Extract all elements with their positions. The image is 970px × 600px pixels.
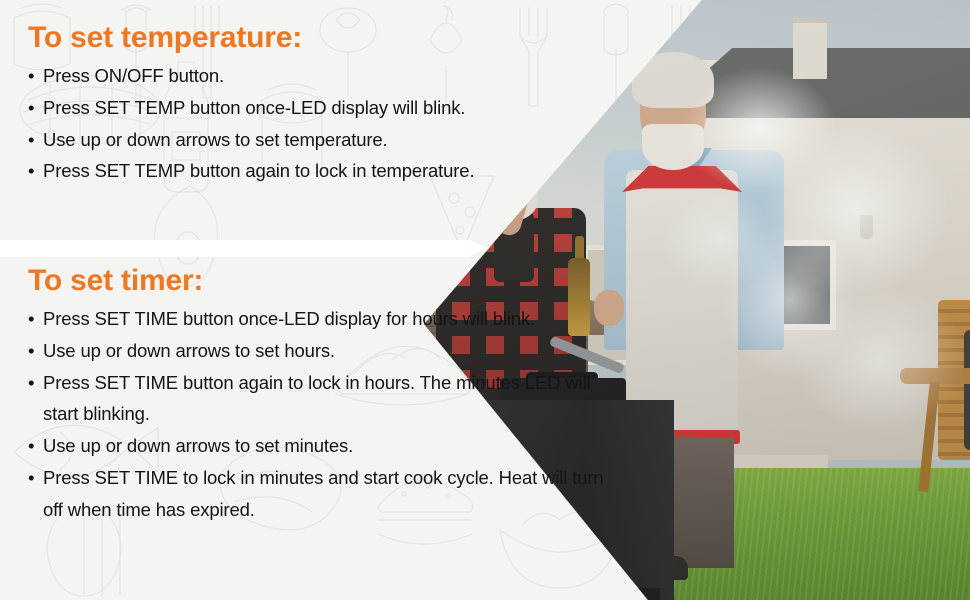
chimney: [793, 18, 827, 79]
list-item: • Press ON/OFF button.: [28, 60, 588, 92]
list-item: • Use up or down arrows to set minutes.: [28, 430, 628, 462]
list-item: • Use up or down arrows to set hours.: [28, 335, 628, 367]
list-item-text: Use up or down arrows to set minutes.: [43, 435, 353, 456]
bullet-glyph: •: [28, 335, 34, 367]
instructions-column: To set temperature: • Press ON/OFF butto…: [0, 0, 660, 600]
section-set-timer: To set timer: • Press SET TIME button on…: [28, 264, 628, 526]
list-item: • Press SET TIME button once-LED display…: [28, 303, 628, 335]
bullet-glyph: •: [28, 367, 34, 399]
smoker-grill-foot: [634, 588, 660, 600]
list-item-text: Press SET TIME to lock in minutes and st…: [43, 467, 603, 520]
list-item-text: Press SET TEMP button again to lock in t…: [43, 160, 474, 181]
bullet-glyph: •: [28, 462, 34, 494]
section-divider-band: [0, 240, 470, 257]
list-item: • Press SET TIME to lock in minutes and …: [28, 462, 628, 526]
steps-list-set-temperature: • Press ON/OFF button. • Press SET TEMP …: [28, 60, 588, 187]
list-item: • Press SET TEMP button once-LED display…: [28, 92, 588, 124]
section-set-temperature: To set temperature: • Press ON/OFF butto…: [28, 21, 588, 187]
list-item-text: Use up or down arrows to set temperature…: [43, 129, 387, 150]
bullet-glyph: •: [28, 92, 34, 124]
bullet-glyph: •: [28, 155, 34, 187]
wall-lamp: [860, 215, 873, 239]
list-item-text: Press SET TIME button once-LED display f…: [43, 308, 535, 329]
bullet-glyph: •: [28, 430, 34, 462]
steps-list-set-timer: • Press SET TIME button once-LED display…: [28, 303, 628, 526]
promo-banner: To set temperature: • Press ON/OFF butto…: [0, 0, 970, 600]
list-item-text: Press SET TIME button again to lock in h…: [43, 372, 590, 425]
section-title-set-temperature: To set temperature:: [28, 21, 588, 54]
dark-chair: [964, 330, 970, 450]
list-item: • Press SET TIME button again to lock in…: [28, 367, 628, 431]
list-item-text: Use up or down arrows to set hours.: [43, 340, 335, 361]
list-item: • Use up or down arrows to set temperatu…: [28, 124, 588, 156]
man-apron-hair: [632, 52, 714, 108]
bullet-glyph: •: [28, 60, 34, 92]
bullet-glyph: •: [28, 303, 34, 335]
list-item: • Press SET TEMP button again to lock in…: [28, 155, 588, 187]
bullet-glyph: •: [28, 124, 34, 156]
list-item-text: Press ON/OFF button.: [43, 65, 224, 86]
section-title-set-timer: To set timer:: [28, 264, 628, 297]
man-apron-beard: [642, 124, 704, 170]
list-item-text: Press SET TEMP button once-LED display w…: [43, 97, 465, 118]
